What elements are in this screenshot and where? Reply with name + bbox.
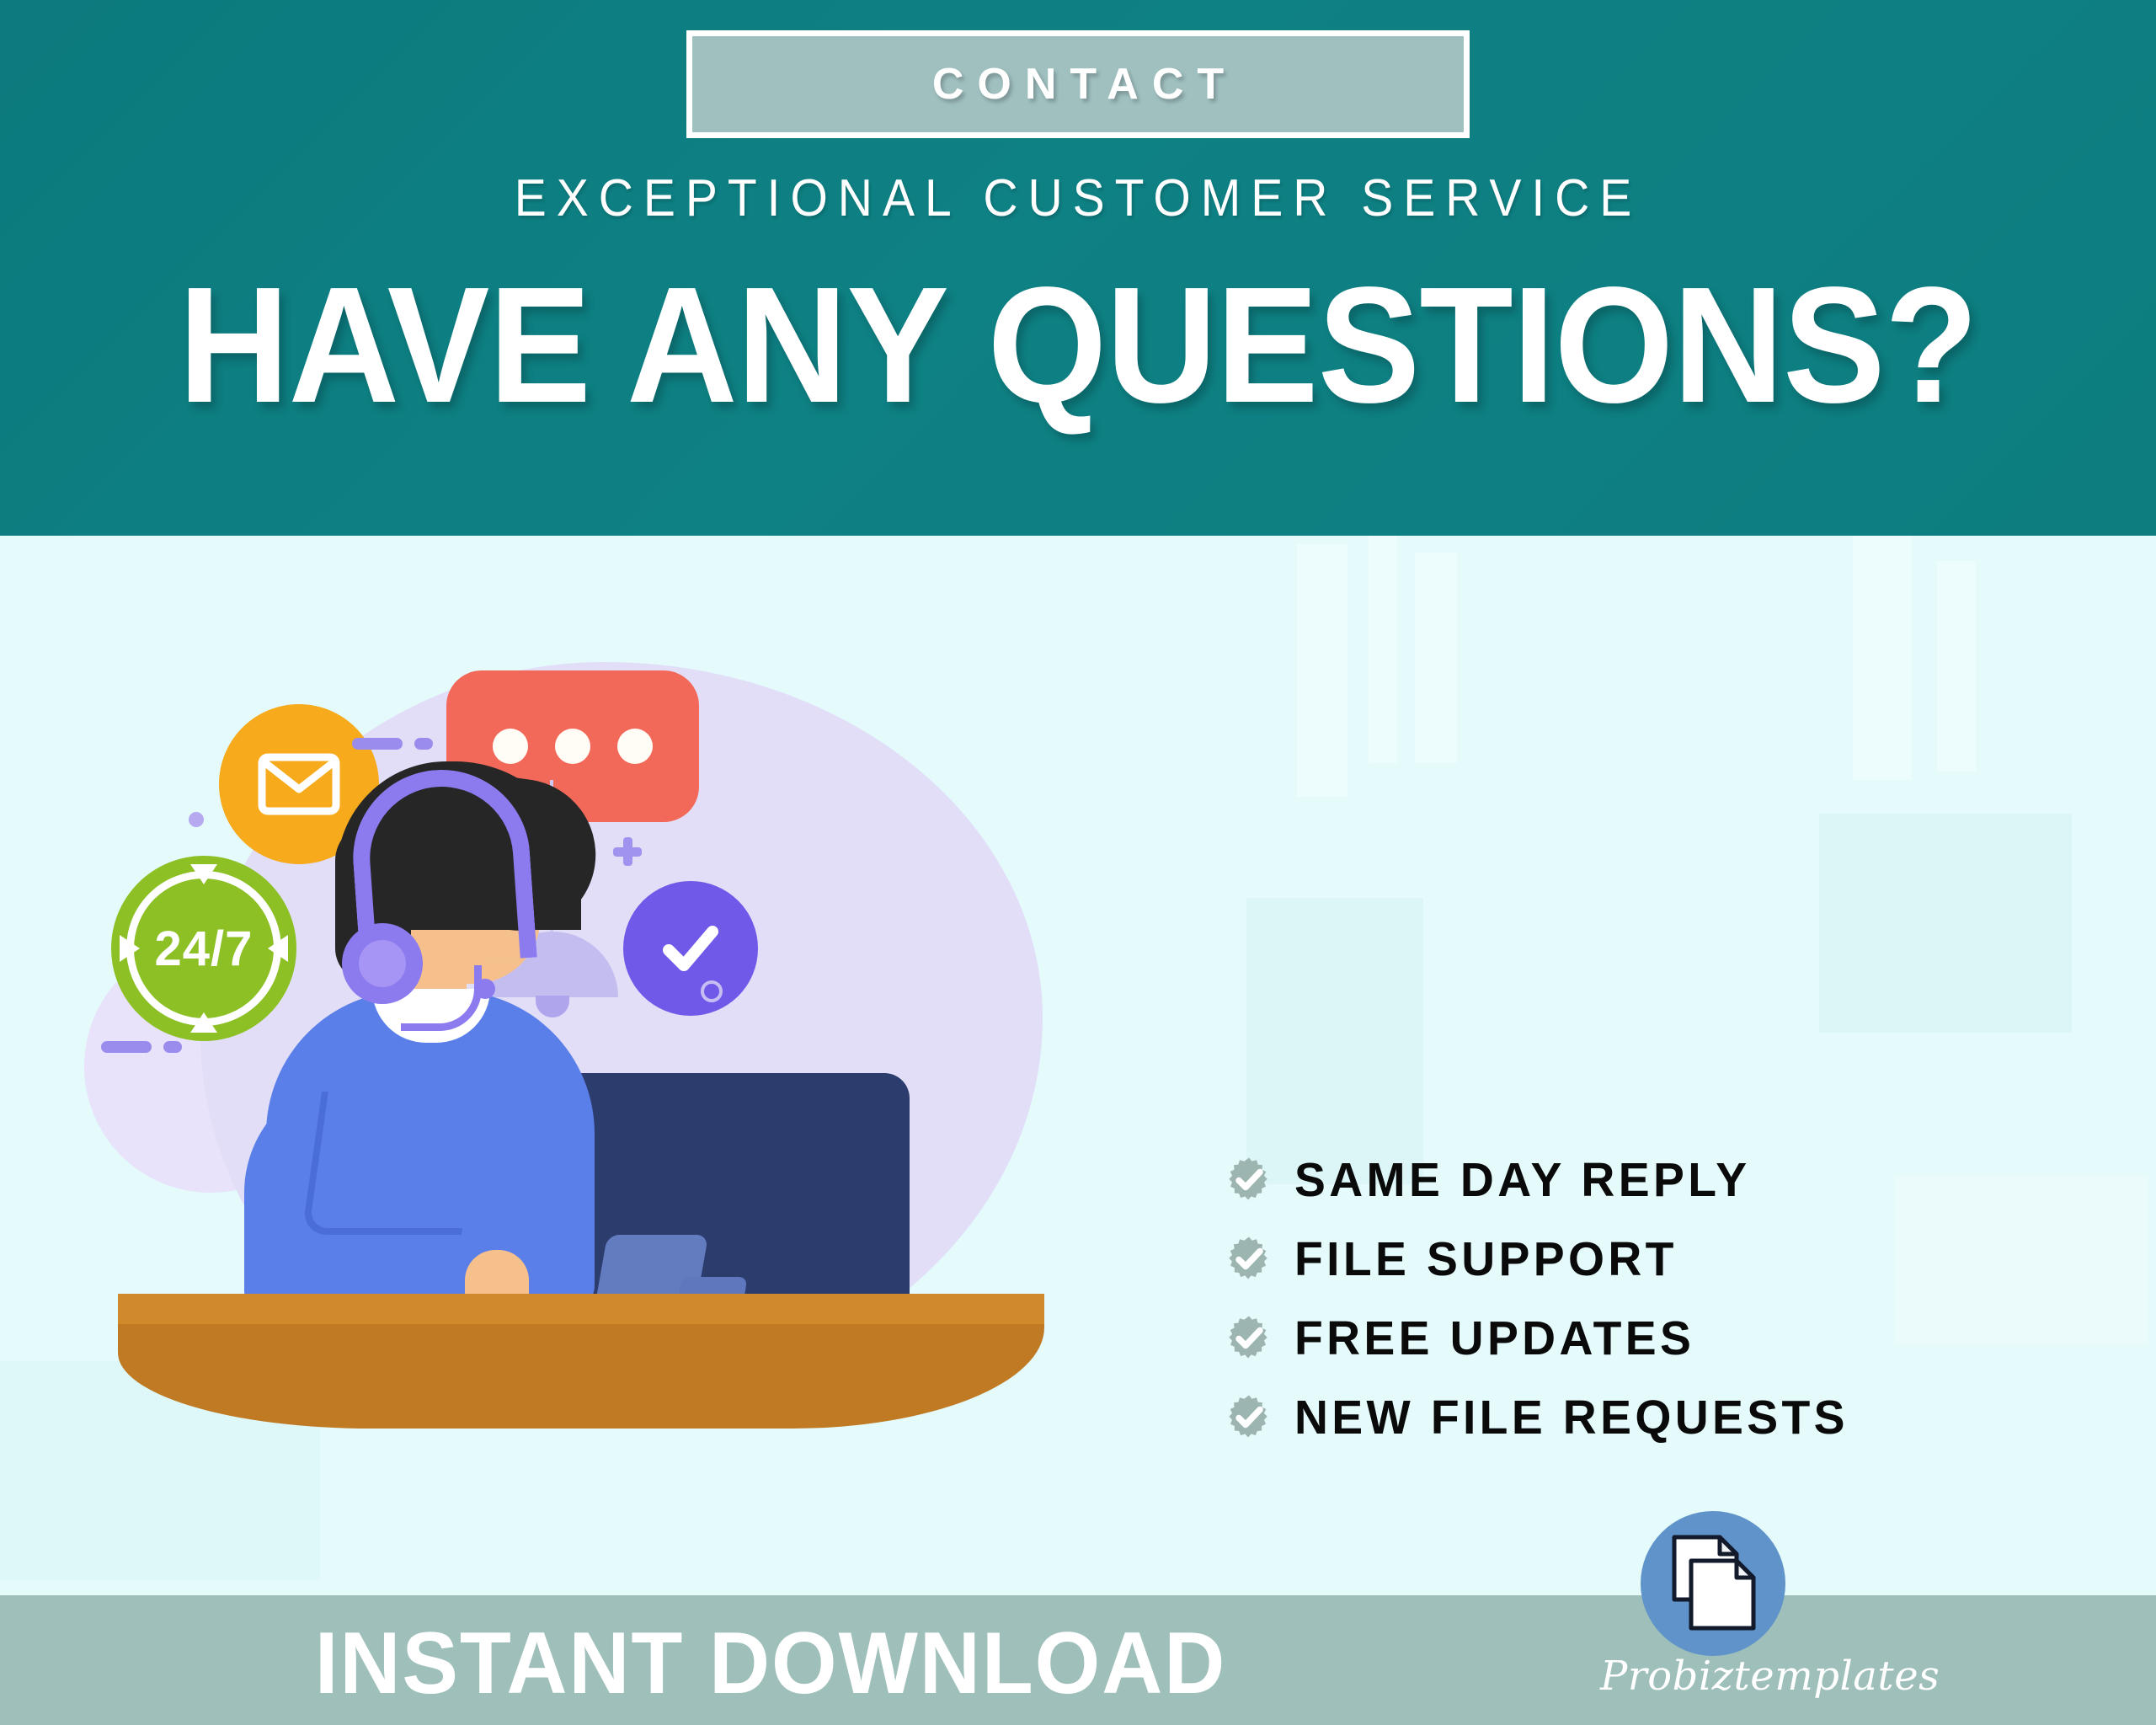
check-circle-icon <box>623 881 758 1016</box>
agent-sleeve-fold <box>302 1092 482 1235</box>
chat-dot <box>555 729 590 764</box>
feature-label: FREE UPDATES <box>1294 1311 1694 1366</box>
chat-dot <box>617 729 653 764</box>
dash-accent <box>352 738 403 750</box>
contact-badge: CONTACT <box>686 30 1470 138</box>
desk-edge <box>118 1294 1044 1324</box>
feature-list: SAME DAY REPLY FILE SUPPORT <box>1225 1140 2118 1457</box>
logo-badge <box>1641 1511 1785 1656</box>
verified-check-badge-icon <box>1225 1156 1273 1204</box>
background-texture <box>1819 814 2072 1033</box>
chat-dot <box>493 729 528 764</box>
page-title: HAVE ANY QUESTIONS? <box>76 263 2081 428</box>
dash-accent <box>414 738 433 750</box>
headset-earcup-inner <box>359 940 406 987</box>
support-agent-illustration: 24/7 <box>101 569 1162 1546</box>
feature-item-same-day-reply: SAME DAY REPLY <box>1225 1140 2118 1220</box>
dot-accent <box>189 812 204 827</box>
plus-accent <box>613 837 642 866</box>
headset-mic-tip <box>475 979 495 999</box>
feature-label: FILE SUPPORT <box>1294 1231 1678 1287</box>
clock-tick-bottom <box>190 1012 217 1033</box>
verified-check-badge-icon <box>1225 1236 1273 1283</box>
background-texture <box>1937 561 1976 772</box>
main-content: 24/7 <box>0 536 2156 1595</box>
background-texture <box>1853 536 1912 780</box>
verified-check-badge-icon <box>1225 1315 1273 1362</box>
background-texture <box>1297 544 1347 797</box>
background-texture <box>1369 536 1397 763</box>
logo-wordmark: Probiztemplates <box>1600 1653 1861 1700</box>
clock-tick-top <box>190 864 217 884</box>
feature-item-file-support: FILE SUPPORT <box>1225 1220 2118 1299</box>
header-banner: CONTACT EXCEPTIONAL CUSTOMER SERVICE HAV… <box>0 0 2156 536</box>
verified-check-badge-icon <box>1225 1394 1273 1441</box>
clock-tick-right <box>268 935 288 962</box>
instant-download-label: INSTANT DOWNLOAD <box>31 1614 1511 1714</box>
background-texture <box>1415 553 1457 763</box>
clock-24-7-badge: 24/7 <box>111 856 296 1041</box>
ring-accent <box>701 980 723 1002</box>
feature-label: NEW FILE REQUESTS <box>1294 1390 1849 1445</box>
header-subtitle: EXCEPTIONAL CUSTOMER SERVICE <box>86 168 2069 228</box>
clock-tick-left <box>120 935 140 962</box>
feature-item-new-file-requests: NEW FILE REQUESTS <box>1225 1378 2118 1457</box>
dash-accent <box>163 1041 182 1053</box>
feature-item-free-updates: FREE UPDATES <box>1225 1299 2118 1378</box>
contact-promo-poster: CONTACT EXCEPTIONAL CUSTOMER SERVICE HAV… <box>0 0 2156 1725</box>
dash-accent <box>101 1041 152 1053</box>
documents-stack-icon <box>1669 1534 1757 1633</box>
clock-badge-label: 24/7 <box>155 921 253 977</box>
contact-badge-label: CONTACT <box>919 59 1237 109</box>
feature-label: SAME DAY REPLY <box>1294 1152 1751 1208</box>
